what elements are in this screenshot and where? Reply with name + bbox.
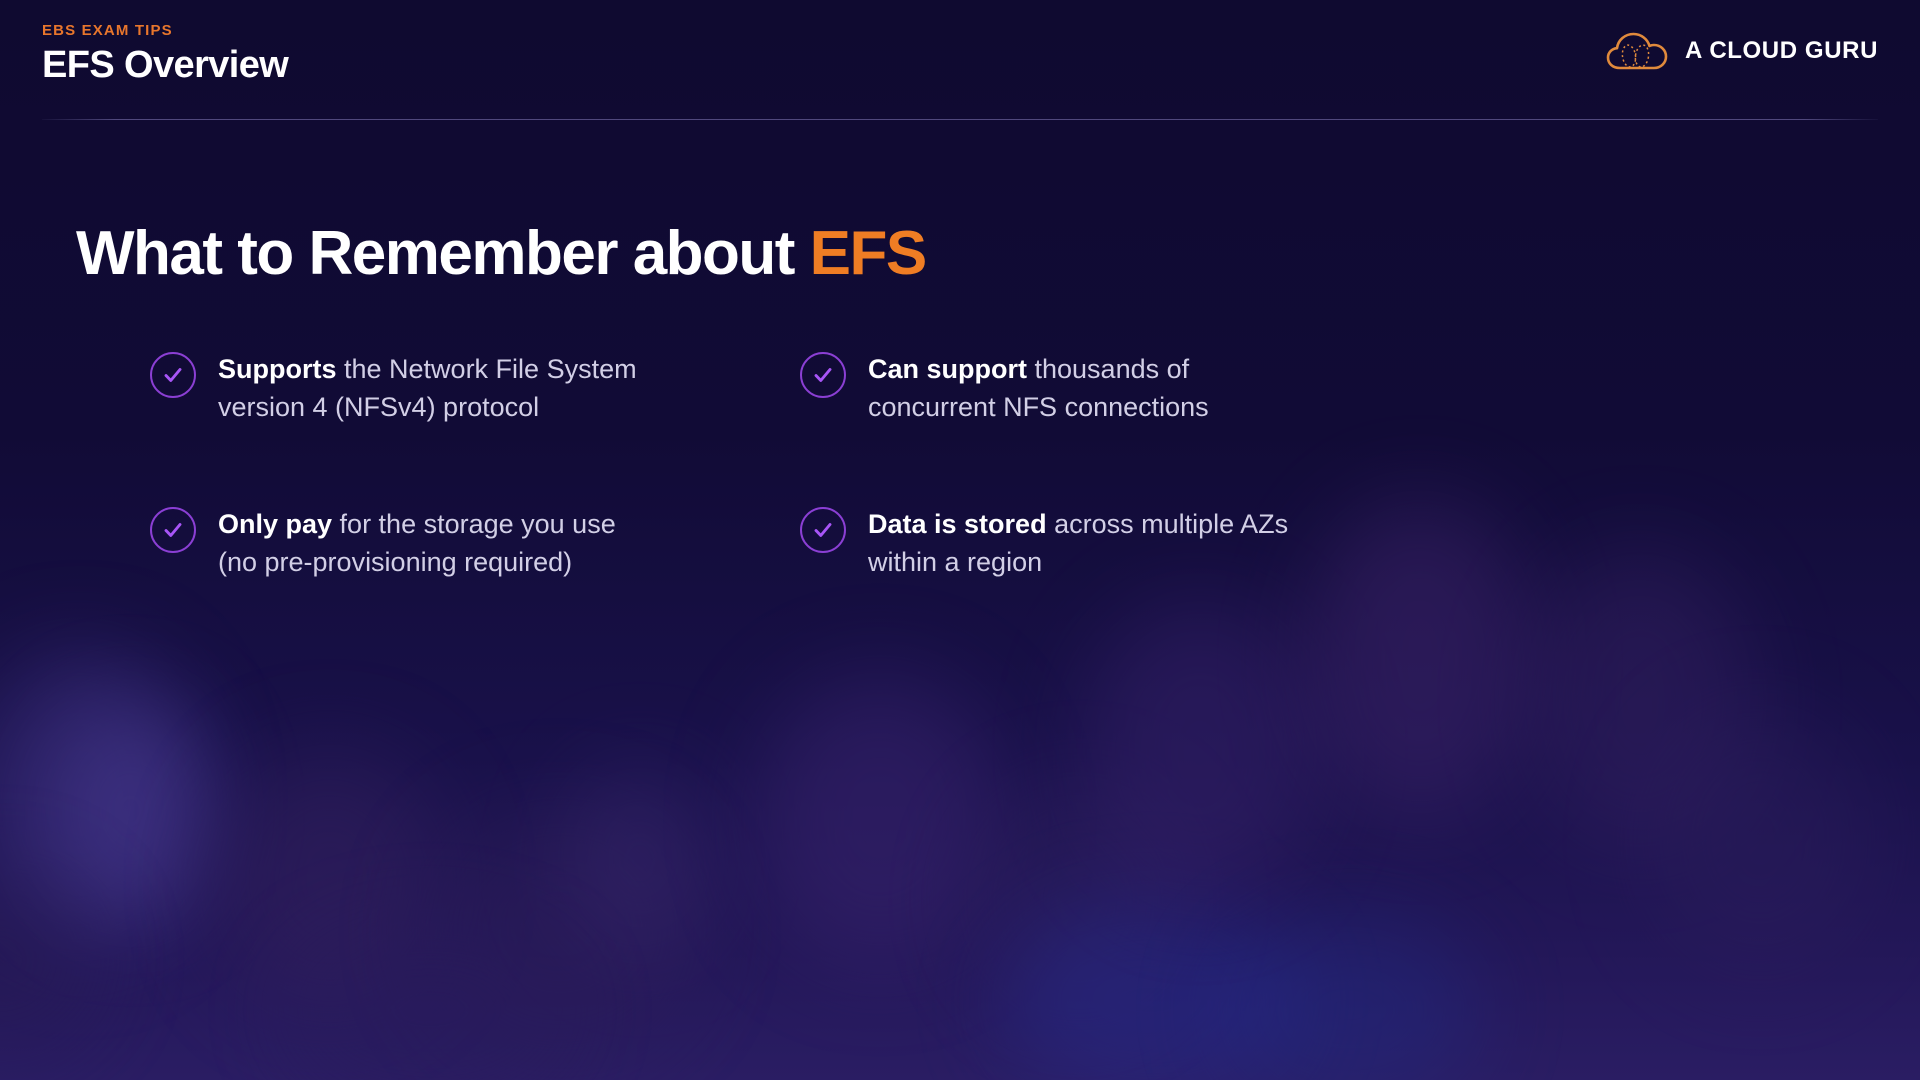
- background-blob: [1220, 915, 1480, 1080]
- bullet-lead: Only pay: [218, 509, 332, 539]
- bullet-text: Supports the Network File System version…: [218, 350, 648, 427]
- background-blob: [565, 765, 715, 955]
- header-divider: [42, 119, 1878, 120]
- background-blob: [215, 750, 445, 1010]
- check-circle-icon: [800, 507, 846, 553]
- background-blob: [1080, 600, 1320, 900]
- background-blob: [975, 785, 1185, 1015]
- bullet-lead: Data is stored: [868, 509, 1047, 539]
- bullet-item: Supports the Network File System version…: [150, 350, 800, 427]
- background-blob: [290, 930, 570, 1080]
- brand-logo: A CLOUD GURU: [1606, 30, 1878, 72]
- cloud-icon: [1606, 30, 1668, 72]
- bullet-lead: Can support: [868, 354, 1027, 384]
- bullet-item: Data is stored across multiple AZs withi…: [800, 505, 1450, 582]
- bullet-item: Can support thousands of concurrent NFS …: [800, 350, 1450, 427]
- slide-header: EBS EXAM TIPS EFS Overview A CLOUD GURU: [0, 0, 1920, 128]
- bullet-list: Supports the Network File System version…: [150, 350, 1550, 581]
- page-title: EFS Overview: [42, 44, 288, 87]
- bullet-item: Only pay for the storage you use (no pre…: [150, 505, 800, 582]
- bullet-text: Data is stored across multiple AZs withi…: [868, 505, 1298, 582]
- bullet-lead: Supports: [218, 354, 337, 384]
- main-heading-prefix: What to Remember about: [76, 219, 810, 288]
- brand-name: A CLOUD GURU: [1685, 37, 1878, 65]
- background-blob: [1525, 550, 1755, 850]
- bullet-text: Only pay for the storage you use (no pre…: [218, 505, 648, 582]
- check-circle-icon: [150, 352, 196, 398]
- header-eyebrow: EBS EXAM TIPS: [42, 22, 173, 39]
- background-blob: [1650, 710, 1870, 970]
- background-blob: [0, 650, 195, 950]
- slide-root: EBS EXAM TIPS EFS Overview A CLOUD GURU …: [0, 0, 1920, 1080]
- background-blob: [0, 870, 100, 1050]
- background-blob: [1000, 900, 1300, 1080]
- bullet-text: Can support thousands of concurrent NFS …: [868, 350, 1298, 427]
- check-circle-icon: [800, 352, 846, 398]
- background-blob: [755, 675, 1005, 965]
- main-heading: What to Remember about EFS: [76, 218, 926, 289]
- background-blob: [430, 810, 690, 1050]
- check-circle-icon: [150, 507, 196, 553]
- main-heading-accent: EFS: [810, 219, 926, 288]
- background-blob: [48, 703, 213, 918]
